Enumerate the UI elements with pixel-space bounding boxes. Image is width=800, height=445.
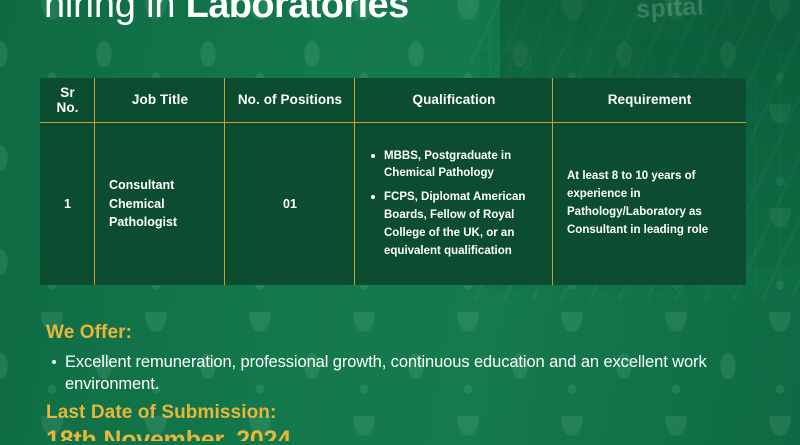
column-header-positions-label: No. of Positions (238, 92, 342, 107)
column-header-sr-no-label: SrNo. (56, 85, 78, 115)
column-header-requirement: Requirement (553, 78, 746, 122)
jobs-table: SrNo. Job Title No. of Positions Qualifi… (40, 78, 746, 285)
offer-item: Excellent remuneration, professional gro… (46, 351, 746, 396)
last-date-heading: Last Date of Submission: (46, 402, 746, 424)
qualification-list: MBBS, Postgraduate in Chemical Pathology… (371, 148, 543, 261)
offer-list: Excellent remuneration, professional gro… (46, 351, 746, 396)
page-title-lead: hiring in (44, 0, 175, 26)
table-header-row: SrNo. Job Title No. of Positions Qualifi… (40, 78, 746, 123)
cell-qualification: MBBS, Postgraduate in Chemical Pathology… (355, 123, 553, 285)
last-date-value: 18th November, 2024 (46, 428, 746, 441)
last-date-value-clipped: 18th November, 2024 (46, 428, 746, 441)
cell-sr-no: 1 (40, 123, 95, 285)
column-header-sr-no: SrNo. (40, 78, 95, 122)
cell-requirement: At least 8 to 10 years of experience in … (553, 123, 746, 285)
cell-positions-value: 01 (283, 197, 297, 211)
table-row: 1 Consultant Chemical Pathologist 01 MBB… (40, 123, 746, 285)
column-header-qualification: Qualification (355, 78, 553, 122)
we-offer-heading: We Offer: (46, 322, 746, 344)
column-header-qualification-label: Qualification (412, 92, 495, 107)
column-header-job-title: Job Title (95, 78, 225, 122)
column-header-job-title-label: Job Title (132, 92, 188, 107)
page-title-emphasis: Laboratories (186, 0, 409, 26)
column-header-requirement-label: Requirement (608, 92, 692, 107)
column-header-positions: No. of Positions (225, 78, 355, 122)
cell-job-title: Consultant Chemical Pathologist (95, 123, 225, 285)
qualification-item: FCPS, Diplomat American Boards, Fellow o… (371, 189, 543, 260)
cell-positions: 01 (225, 123, 355, 285)
cell-job-title-value: Consultant Chemical Pathologist (109, 176, 211, 232)
page-title: hiring in Laboratories (44, 0, 409, 27)
cell-requirement-value: At least 8 to 10 years of experience in … (567, 168, 732, 239)
qualification-item: MBBS, Postgraduate in Chemical Pathology (371, 148, 543, 184)
hospital-text-watermark: spital (635, 0, 705, 25)
cell-sr-no-value: 1 (64, 197, 71, 211)
footer-section: We Offer: Excellent remuneration, profes… (46, 322, 746, 441)
